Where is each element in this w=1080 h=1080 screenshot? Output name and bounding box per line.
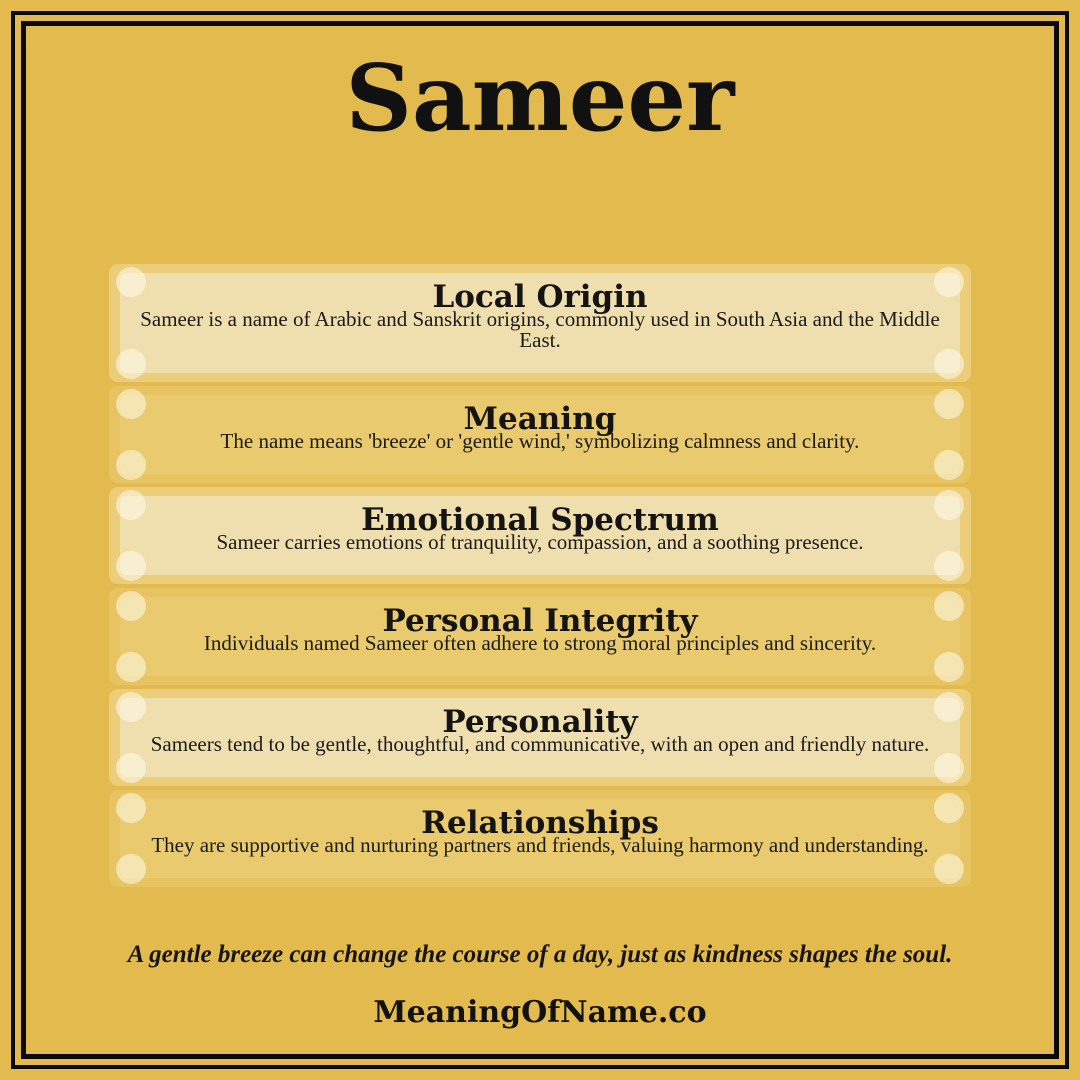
info-card-panel: Meaning The name means 'breeze' or 'gent… — [120, 395, 960, 474]
info-card-local-origin[interactable]: Local Origin Sameer is a name of Arabic … — [109, 264, 971, 382]
info-card-body: Sameer is a name of Arabic and Sanskrit … — [140, 309, 940, 351]
info-card-personal-integrity[interactable]: Personal Integrity Individuals named Sam… — [109, 588, 971, 685]
info-card-panel: Personal Integrity Individuals named Sam… — [120, 597, 960, 676]
info-card-list: Local Origin Sameer is a name of Arabic … — [109, 264, 971, 891]
info-card-title: Relationships — [140, 808, 940, 839]
poster: Sameer Local Origin Sameer is a name of … — [0, 0, 1080, 1080]
corner-dot-icon — [116, 450, 146, 480]
corner-dot-icon — [934, 854, 964, 884]
info-card-relationships[interactable]: Relationships They are supportive and nu… — [109, 790, 971, 887]
corner-dot-icon — [934, 349, 964, 379]
corner-dot-icon — [116, 349, 146, 379]
info-card-panel: Relationships They are supportive and nu… — [120, 799, 960, 878]
info-card-emotional-spectrum[interactable]: Emotional Spectrum Sameer carries emotio… — [109, 487, 971, 584]
corner-dot-icon — [934, 753, 964, 783]
poster-footer: A gentle breeze can change the course of… — [26, 941, 1054, 1054]
poster-content: Sameer Local Origin Sameer is a name of … — [26, 26, 1054, 1054]
page-title: Sameer — [346, 52, 735, 144]
corner-dot-icon — [116, 652, 146, 682]
corner-dot-icon — [116, 753, 146, 783]
info-card-title: Personality — [140, 707, 940, 738]
info-card-panel: Local Origin Sameer is a name of Arabic … — [120, 273, 960, 373]
info-card-title: Emotional Spectrum — [140, 505, 940, 536]
info-card-title: Meaning — [140, 404, 940, 435]
info-card-personality[interactable]: Personality Sameers tend to be gentle, t… — [109, 689, 971, 786]
corner-dot-icon — [934, 551, 964, 581]
info-card-meaning[interactable]: Meaning The name means 'breeze' or 'gent… — [109, 386, 971, 483]
corner-dot-icon — [116, 551, 146, 581]
info-card-panel: Emotional Spectrum Sameer carries emotio… — [120, 496, 960, 575]
info-card-panel: Personality Sameers tend to be gentle, t… — [120, 698, 960, 777]
footer-quote: A gentle breeze can change the course of… — [26, 941, 1054, 969]
info-card-title: Personal Integrity — [140, 606, 940, 637]
corner-dot-icon — [116, 854, 146, 884]
info-card-title: Local Origin — [140, 282, 940, 313]
footer-brand: MeaningOfName.co — [26, 995, 1054, 1030]
corner-dot-icon — [934, 450, 964, 480]
corner-dot-icon — [934, 652, 964, 682]
